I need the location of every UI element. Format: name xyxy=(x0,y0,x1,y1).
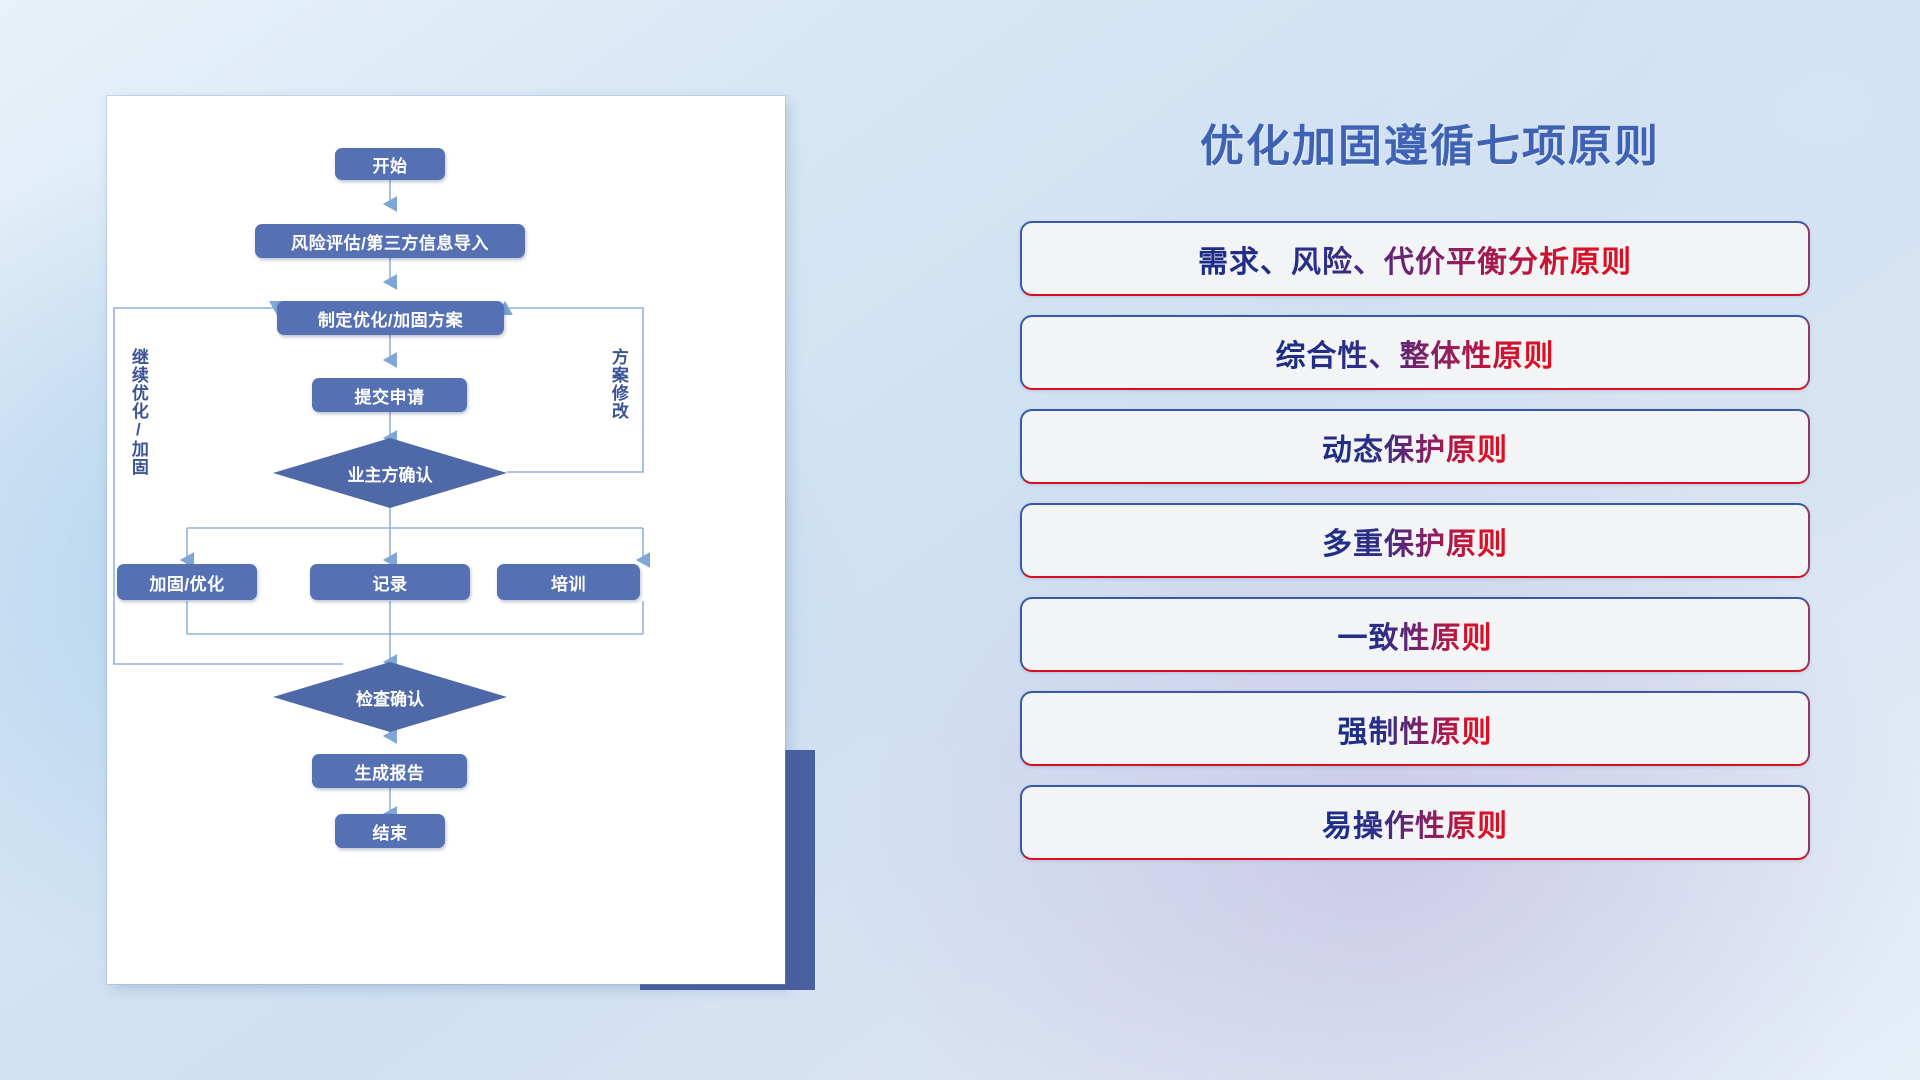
flow-decision-check-confirm-label: 检查确认 xyxy=(356,685,424,710)
panel-title: 优化加固遵循七项原则 xyxy=(1020,110,1840,174)
flow-node-start-label: 开始 xyxy=(373,152,408,177)
principle-item-5[interactable]: 一致性原则 xyxy=(1020,597,1810,672)
principle-item-4[interactable]: 多重保护原则 xyxy=(1020,503,1810,578)
principle-item-7[interactable]: 易操作性原则 xyxy=(1020,785,1810,860)
flow-edge-label-plan-revision: 方案修改 xyxy=(609,348,627,420)
principle-item-6-label: 强制性原则 xyxy=(1338,707,1493,751)
flow-decision-owner-confirm-label: 业主方确认 xyxy=(348,461,433,486)
flow-node-risk-assessment[interactable]: 风险评估/第三方信息导入 xyxy=(255,224,525,258)
principle-item-5-label: 一致性原则 xyxy=(1338,613,1493,657)
flowchart-card: 开始 风险评估/第三方信息导入 制定优化/加固方案 提交申请 业主方确认 加固/… xyxy=(107,96,785,984)
principle-item-3-label: 动态保护原则 xyxy=(1322,425,1508,469)
principle-item-2-label: 综合性、整体性原则 xyxy=(1276,331,1555,375)
flow-node-end[interactable]: 结束 xyxy=(335,814,445,848)
flow-node-record[interactable]: 记录 xyxy=(310,564,470,600)
principles-panel: 优化加固遵循七项原则 需求、风险、代价平衡分析原则 综合性、整体性原则 动态保护… xyxy=(1020,96,1840,996)
flow-edge-label-continue-optimize: 继续优化/加固 xyxy=(129,348,147,476)
principle-item-1-label: 需求、风险、代价平衡分析原则 xyxy=(1198,237,1632,281)
principle-item-7-label: 易操作性原则 xyxy=(1322,801,1508,845)
slide-canvas: 开始 风险评估/第三方信息导入 制定优化/加固方案 提交申请 业主方确认 加固/… xyxy=(0,0,1920,1080)
flow-node-training-label: 培训 xyxy=(551,570,586,595)
flow-node-reinforce[interactable]: 加固/优化 xyxy=(117,564,257,600)
principle-item-1[interactable]: 需求、风险、代价平衡分析原则 xyxy=(1020,221,1810,296)
flow-node-submit[interactable]: 提交申请 xyxy=(312,378,467,412)
flow-node-end-label: 结束 xyxy=(373,819,408,844)
principle-item-2[interactable]: 综合性、整体性原则 xyxy=(1020,315,1810,390)
flow-node-start[interactable]: 开始 xyxy=(335,148,445,180)
flow-node-training[interactable]: 培训 xyxy=(497,564,640,600)
principle-item-3[interactable]: 动态保护原则 xyxy=(1020,409,1810,484)
flow-node-report[interactable]: 生成报告 xyxy=(312,754,467,788)
flow-node-reinforce-label: 加固/优化 xyxy=(149,570,224,595)
flow-node-risk-assessment-label: 风险评估/第三方信息导入 xyxy=(291,229,489,254)
flow-node-submit-label: 提交申请 xyxy=(355,383,425,408)
flow-node-plan[interactable]: 制定优化/加固方案 xyxy=(277,301,504,335)
principle-item-4-label: 多重保护原则 xyxy=(1322,519,1508,563)
flow-node-plan-label: 制定优化/加固方案 xyxy=(318,306,463,331)
principles-list: 需求、风险、代价平衡分析原则 综合性、整体性原则 动态保护原则 多重保护原则 一… xyxy=(1020,221,1810,879)
flow-decision-owner-confirm[interactable]: 业主方确认 xyxy=(273,438,507,508)
principle-item-6[interactable]: 强制性原则 xyxy=(1020,691,1810,766)
flow-decision-check-confirm[interactable]: 检查确认 xyxy=(273,662,507,732)
flow-node-record-label: 记录 xyxy=(373,570,408,595)
flow-node-report-label: 生成报告 xyxy=(355,759,425,784)
